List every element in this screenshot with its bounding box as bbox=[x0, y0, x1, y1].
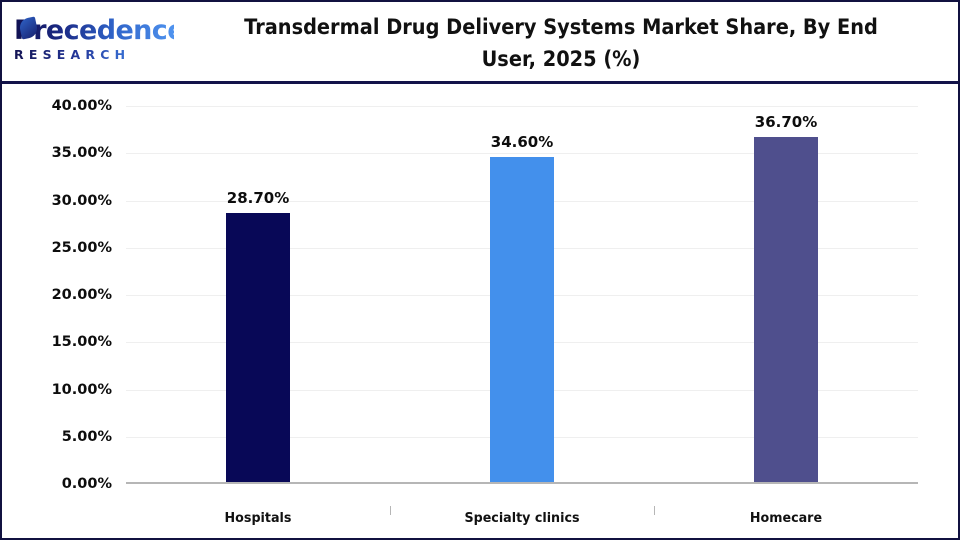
chart-header: Precedence RESEARCH Transdermal Drug Del… bbox=[2, 2, 958, 84]
chart-page: Precedence RESEARCH Transdermal Drug Del… bbox=[0, 0, 960, 540]
x-axis-category-label: Homecare bbox=[662, 510, 910, 526]
bar-chart: 0.00%5.00%10.00%15.00%20.00%25.00%30.00%… bbox=[2, 84, 958, 538]
precedence-research-logo: Precedence RESEARCH bbox=[14, 16, 174, 72]
bar-value-label: 28.70% bbox=[227, 189, 289, 207]
y-axis-tick-label: 5.00% bbox=[26, 429, 112, 445]
logo-subtitle-text: RESEARCH bbox=[14, 47, 174, 62]
y-axis-tick-label: 35.00% bbox=[26, 145, 112, 161]
bar-value-label: 36.70% bbox=[755, 113, 817, 131]
bar-slot: 28.70% bbox=[126, 106, 390, 484]
x-axis-category-label: Hospitals bbox=[134, 510, 382, 526]
y-axis-tick-label: 15.00% bbox=[26, 334, 112, 350]
bar-slot: 34.60% bbox=[390, 106, 654, 484]
x-axis-line bbox=[126, 482, 918, 484]
bar[interactable] bbox=[226, 213, 290, 484]
y-axis-tick-label: 30.00% bbox=[26, 193, 112, 209]
bar[interactable] bbox=[754, 137, 818, 484]
y-axis-tick-label: 25.00% bbox=[26, 240, 112, 256]
x-axis-category-label: Specialty clinics bbox=[398, 510, 646, 526]
x-axis-tick bbox=[390, 506, 391, 515]
x-axis-tick bbox=[654, 506, 655, 515]
bar-value-label: 34.60% bbox=[491, 133, 553, 151]
bar[interactable] bbox=[490, 157, 554, 484]
y-axis-tick-label: 0.00% bbox=[26, 476, 112, 492]
bar-slot: 36.70% bbox=[654, 106, 918, 484]
page-title: Transdermal Drug Delivery Systems Market… bbox=[216, 8, 905, 80]
y-axis-tick-label: 10.00% bbox=[26, 382, 112, 398]
y-axis-tick-label: 40.00% bbox=[26, 98, 112, 114]
y-axis-tick-label: 20.00% bbox=[26, 287, 112, 303]
logo-brand-text: Precedence bbox=[14, 16, 174, 46]
plot-area: 0.00%5.00%10.00%15.00%20.00%25.00%30.00%… bbox=[126, 106, 918, 484]
